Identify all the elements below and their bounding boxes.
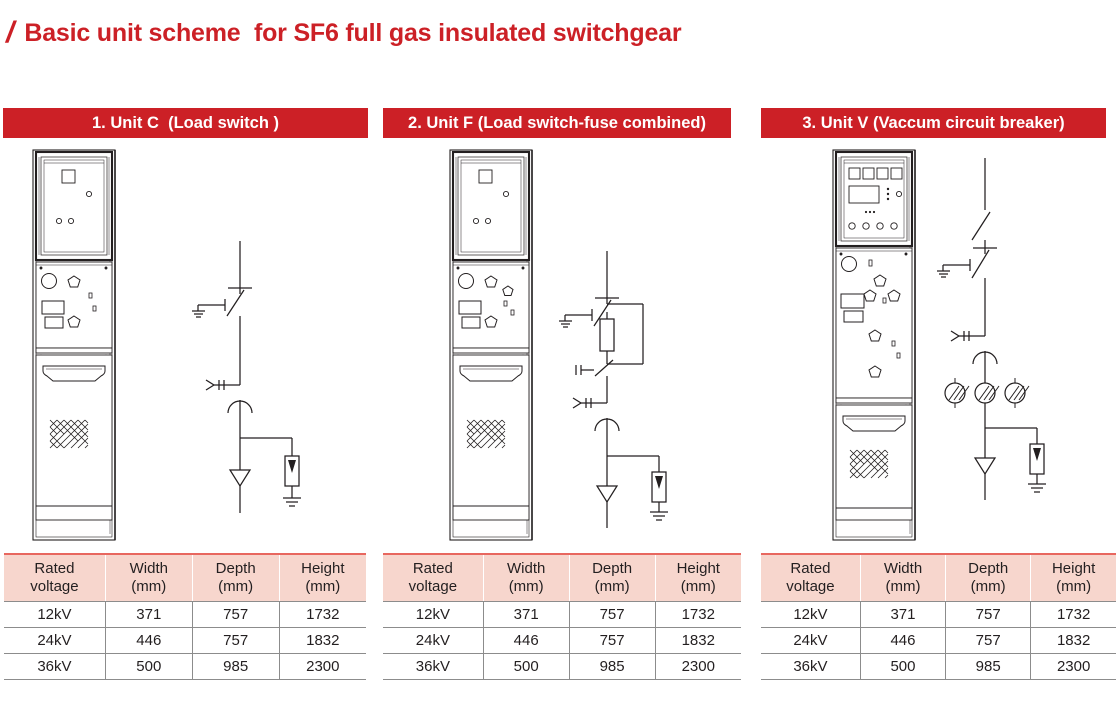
col-width: Width (mm) [860,554,945,602]
cable-compartment [836,405,912,520]
operating-panel [836,248,912,407]
cell-depth: 757 [946,628,1031,654]
col-height: Height (mm) [655,554,741,602]
width-line2: (mm) [885,578,920,595]
height-line1: Height [677,560,720,577]
depth-line2: (mm) [218,578,253,595]
depth-line1: Depth [216,560,256,577]
unit-column-2: 2. Unit F (Load switch-fuse combined) [375,108,753,680]
width-line1: Width [884,560,922,577]
cell-width: 500 [860,654,945,680]
cell-depth: 757 [192,628,279,654]
cell-depth: 757 [569,602,655,628]
cell-voltage: 24kV [383,628,483,654]
cell-width: 500 [483,654,569,680]
cell-height: 2300 [279,654,366,680]
cell-height: 1832 [1031,628,1116,654]
unit-2-drawing [375,138,753,553]
cell-depth: 985 [569,654,655,680]
unit-1-header: 1. Unit C (Load switch ) [3,108,368,138]
table-row: 36kV 500 985 2300 [383,654,741,680]
height-line1: Height [1052,560,1095,577]
upper-compartment [453,152,529,260]
protection-relay-panel [836,152,912,246]
table-row: 12kV 371 757 1732 [4,602,366,628]
cell-voltage: 12kV [4,602,105,628]
unit-columns: 1. Unit C (Load switch ) [0,108,1120,680]
width-line1: Width [507,560,545,577]
unit-1-spec-table: Rated voltage Width (mm) Depth (mm) Heig… [4,553,366,680]
cell-height: 1732 [279,602,366,628]
cell-depth: 985 [192,654,279,680]
col-rated-voltage: Rated voltage [4,554,105,602]
cell-height: 1832 [655,628,741,654]
vacuum-breaker-schematic [937,158,1046,500]
table-row: 12kV 371 757 1732 [761,602,1116,628]
rated-voltage-line1: Rated [413,560,453,577]
col-rated-voltage: Rated voltage [761,554,860,602]
load-switch-fuse-schematic [559,251,668,528]
cell-voltage: 12kV [761,602,860,628]
fuse-symbol [600,319,614,351]
cell-height: 2300 [1031,654,1116,680]
cell-width: 371 [483,602,569,628]
table-row: 24kV 446 757 1832 [383,628,741,654]
rated-voltage-line2: voltage [786,578,834,595]
depth-line1: Depth [968,560,1008,577]
cable-compartment [36,355,112,520]
cell-width: 446 [860,628,945,654]
height-line2: (mm) [681,578,716,595]
depth-line1: Depth [592,560,632,577]
col-depth: Depth (mm) [569,554,655,602]
col-width: Width (mm) [483,554,569,602]
col-rated-voltage: Rated voltage [383,554,483,602]
cell-depth: 757 [946,602,1031,628]
cell-voltage: 24kV [4,628,105,654]
cell-depth: 985 [946,654,1031,680]
operating-panel [453,262,529,357]
unit-2-header: 2. Unit F (Load switch-fuse combined) [383,108,731,138]
cell-voltage: 12kV [383,602,483,628]
width-line2: (mm) [131,578,166,595]
table-header-row: Rated voltage Width (mm) Depth (mm) Heig… [383,554,741,602]
table-row: 24kV 446 757 1832 [4,628,366,654]
title-accent-slash: / [6,18,14,48]
cell-voltage: 36kV [383,654,483,680]
col-depth: Depth (mm) [946,554,1031,602]
col-height: Height (mm) [1031,554,1116,602]
cell-height: 2300 [655,654,741,680]
height-line1: Height [301,560,344,577]
operating-panel [36,262,112,357]
unit-1-drawing-svg [0,138,375,553]
depth-line2: (mm) [595,578,630,595]
table-header-row: Rated voltage Width (mm) Depth (mm) Heig… [761,554,1116,602]
unit-column-1: 1. Unit C (Load switch ) [0,108,375,680]
cell-depth: 757 [192,602,279,628]
unit-3-header: 3. Unit V (Vaccum circuit breaker) [761,108,1106,138]
rated-voltage-line2: voltage [30,578,78,595]
cell-height: 1732 [1031,602,1116,628]
rated-voltage-line2: voltage [409,578,457,595]
col-height: Height (mm) [279,554,366,602]
cell-width: 500 [105,654,192,680]
table-row: 24kV 446 757 1832 [761,628,1116,654]
rated-voltage-line1: Rated [790,560,830,577]
height-line2: (mm) [1056,578,1091,595]
upper-compartment [36,152,112,260]
rated-voltage-line1: Rated [34,560,74,577]
cell-voltage: 36kV [4,654,105,680]
unit-1-drawing [0,138,375,553]
col-depth: Depth (mm) [192,554,279,602]
cell-voltage: 36kV [761,654,860,680]
current-transformer-group [945,378,1029,408]
cell-width: 371 [860,602,945,628]
cell-width: 446 [105,628,192,654]
unit-3-spec-table: Rated voltage Width (mm) Depth (mm) Heig… [761,553,1116,680]
cell-height: 1832 [279,628,366,654]
table-header-row: Rated voltage Width (mm) Depth (mm) Heig… [4,554,366,602]
cell-voltage: 24kV [761,628,860,654]
width-line2: (mm) [509,578,544,595]
unit-3-drawing-svg [753,138,1120,553]
unit-2-spec-table: Rated voltage Width (mm) Depth (mm) Heig… [383,553,741,680]
unit-column-3: 3. Unit V (Vaccum circuit breaker) [753,108,1120,680]
depth-line2: (mm) [971,578,1006,595]
table-row: 12kV 371 757 1732 [383,602,741,628]
page-title: / Basic unit scheme for SF6 full gas ins… [0,18,681,48]
cell-width: 446 [483,628,569,654]
table-row: 36kV 500 985 2300 [4,654,366,680]
unit-2-drawing-svg [375,138,753,553]
table-row: 36kV 500 985 2300 [761,654,1116,680]
cell-width: 371 [105,602,192,628]
cell-height: 1732 [655,602,741,628]
unit-3-drawing [753,138,1120,553]
load-switch-schematic [192,241,301,513]
page-title-text: Basic unit scheme for SF6 full gas insul… [24,19,681,48]
cell-depth: 757 [569,628,655,654]
width-line1: Width [130,560,168,577]
height-line2: (mm) [305,578,340,595]
cable-compartment [453,355,529,520]
col-width: Width (mm) [105,554,192,602]
